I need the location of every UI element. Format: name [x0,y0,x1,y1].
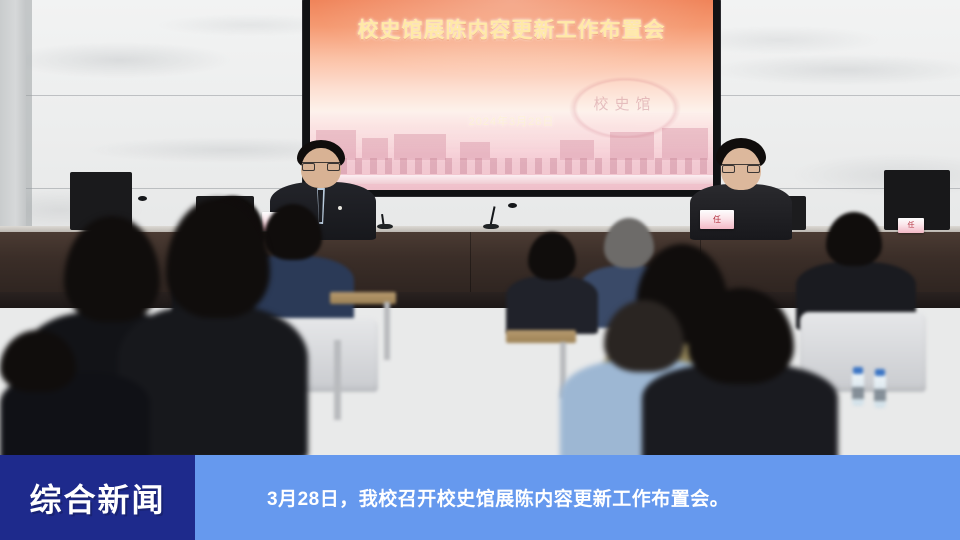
glasses-icon [722,164,760,171]
speaker-nameplate-right: 任 [700,210,734,229]
microphone-base [483,224,499,229]
news-photo-card: 校史馆 校史馆展陈内容更新工作布置会 2024年3月28日 [0,0,960,540]
water-bottle [874,374,886,408]
category-badge-label: 综合新闻 [29,475,165,521]
microphone-head [508,203,517,208]
water-bottle [852,372,864,406]
attendee [642,288,838,455]
meeting-photograph: 校史馆 校史馆展陈内容更新工作布置会 2024年3月28日 [0,0,960,455]
slide-date: 2024年3月28日 [310,113,713,129]
attendee [0,330,150,455]
microphone-base [377,224,393,229]
caption-description: 3月28日，我校召开校史馆展陈内容更新工作布置会。 [195,455,960,540]
category-badge[interactable]: 综合新闻 [0,455,195,540]
slide-title: 校史馆展陈内容更新工作布置会 [310,14,713,44]
caption-bar: 综合新闻 3月28日，我校召开校史馆展陈内容更新工作布置会。 [0,455,960,540]
glasses-icon [302,162,340,169]
audience-nameplate: 任 [898,218,924,233]
